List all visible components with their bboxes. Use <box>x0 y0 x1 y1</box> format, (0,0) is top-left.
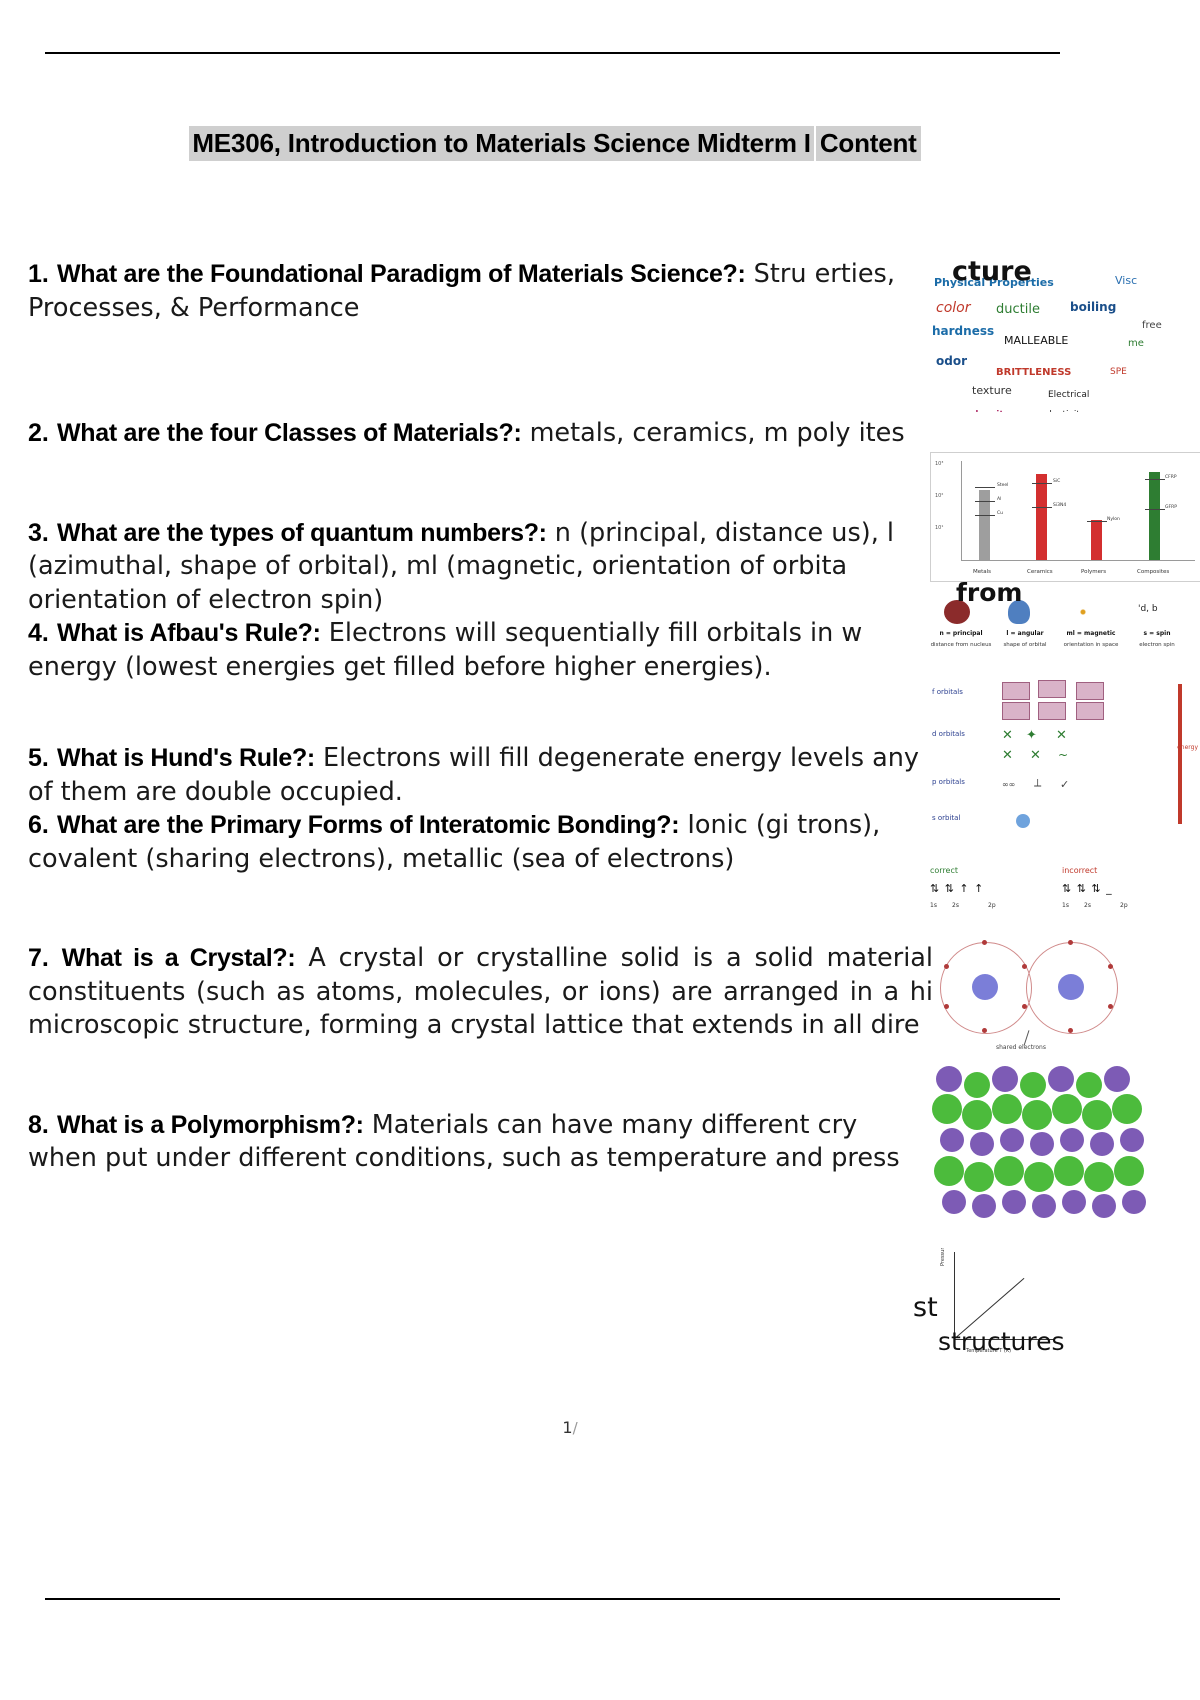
properties-word-visc: Visc <box>1115 274 1137 287</box>
page-title-part2: Content <box>816 126 921 161</box>
qa-item-2: 2. What are the four Classes of Material… <box>28 417 953 451</box>
bonding-electron-9 <box>1108 1004 1113 1009</box>
page-separator: / <box>573 1419 578 1437</box>
crystal-ball <box>1084 1162 1114 1192</box>
crystal-ball <box>972 1194 996 1218</box>
crystal-ball <box>942 1190 966 1214</box>
qa-item-4: 4. What is Afbau's Rule?: Electrons will… <box>28 617 943 684</box>
qa-number-4: 4. <box>28 619 49 647</box>
page-bottom-rule <box>45 1598 1060 1600</box>
qa-item-6: 6. What are the Primary Forms of Interat… <box>28 809 928 876</box>
crystal-ball <box>1112 1094 1142 1124</box>
qa-question-2: What are the four Classes of Materials?: <box>57 419 522 447</box>
crystal-ball <box>1032 1194 1056 1218</box>
crystal-ball <box>1104 1066 1130 1092</box>
qa-number-6: 6. <box>28 811 49 839</box>
qa-item-7: 7. What is a Crystal?: A crystal or crys… <box>28 942 933 1043</box>
crystal-ball <box>1114 1156 1144 1186</box>
page-top-rule <box>45 52 1060 54</box>
qa-question-3: What are the types of quantum numbers?: <box>57 519 547 547</box>
qa-answer-2: metals, ceramics, m poly ites <box>521 418 904 448</box>
chart-bar-label-10: GFRP <box>1165 505 1177 510</box>
crystal-ball <box>1120 1128 1144 1152</box>
qa-number-2: 2. <box>28 419 49 447</box>
page-number: 1 <box>562 1418 572 1437</box>
quantum-title-3: s = spin <box>1126 630 1188 637</box>
properties-word-spe: SPE <box>1110 367 1127 377</box>
page-footer: 1/ <box>0 1418 1140 1437</box>
crystal-ball <box>1122 1190 1146 1214</box>
properties-word-free: free <box>1142 320 1162 331</box>
properties-word-me: me <box>1128 338 1144 349</box>
quantum-icon-spin: 'd, b <box>1138 604 1158 614</box>
document-page: ME306, Introduction to Materials Science… <box>0 0 1200 1700</box>
ghost-caption-st: st <box>913 1292 938 1323</box>
chart-bar-polymers <box>1091 520 1102 560</box>
qa-question-1: What are the Foundational Paradigm of Ma… <box>57 260 746 288</box>
qa-number-1: 1. <box>28 260 49 288</box>
aufbau-energy-axis <box>1178 684 1182 824</box>
quantum-desc-3: electron spin <box>1126 642 1188 649</box>
chart-bar-label-9: CFRP <box>1165 475 1177 480</box>
qa-question-5: What is Hund's Rule?: <box>57 744 315 772</box>
qa-number-7: 7. <box>28 944 49 972</box>
chart-bar-composites <box>1149 472 1160 560</box>
crystal-ball <box>1092 1194 1116 1218</box>
page-title: ME306, Introduction to Materials Science… <box>0 128 1110 159</box>
chart-marker-6 <box>1087 521 1107 522</box>
crystal-ball <box>1090 1132 1114 1156</box>
qa-item-3: 3. What are the types of quantum numbers… <box>28 517 928 618</box>
qa-item-1: 1. What are the Foundational Paradigm of… <box>28 258 933 325</box>
crystal-ball <box>1062 1190 1086 1214</box>
qa-question-6: What are the Primary Forms of Interatomi… <box>57 811 679 839</box>
chart-bar-label-6: Nylon <box>1107 517 1120 522</box>
qa-question-8: What is a Polymorphism?: <box>57 1111 364 1139</box>
qa-number-8: 8. <box>28 1111 49 1139</box>
qa-question-7: What is a Crystal?: <box>62 944 296 972</box>
chart-marker-8 <box>1145 509 1165 510</box>
crystal-ball <box>1002 1190 1026 1214</box>
qa-item-8: 8. What is a Polymorphism?: Materials ca… <box>28 1109 928 1176</box>
aufbau-energy-label: energy <box>1177 744 1198 751</box>
qa-question-4: What is Afbau's Rule?: <box>57 619 321 647</box>
ghost-caption-structures: structures <box>938 1327 1064 1356</box>
chart-xlabel-composites: Composites <box>1137 569 1169 575</box>
bonding-electron-8 <box>1108 964 1113 969</box>
hund-orbital-label-5: 2p <box>1120 902 1128 909</box>
qa-number-3: 3. <box>28 519 49 547</box>
chart-marker-7 <box>1145 479 1165 480</box>
qa-item-5: 5. What is Hund's Rule?: Electrons will … <box>28 742 928 809</box>
qa-number-5: 5. <box>28 744 49 772</box>
study-guide-list: 1. What are the Foundational Paradigm of… <box>28 258 1088 1176</box>
phase-ylabel: Pressure P <box>940 1248 946 1266</box>
page-title-part1: ME306, Introduction to Materials Science… <box>189 126 813 161</box>
